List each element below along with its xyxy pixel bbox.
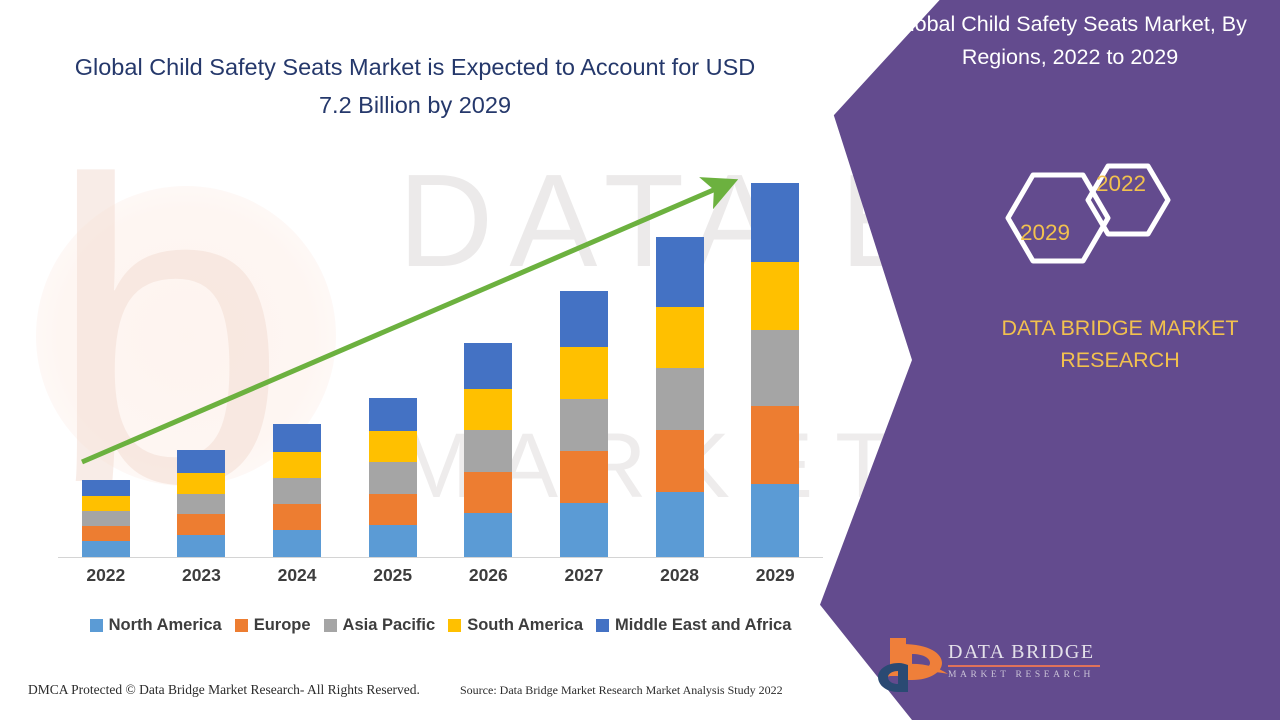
bar-segment[interactable]	[656, 430, 704, 492]
legend-swatch-icon	[596, 619, 609, 632]
bar-slot	[632, 157, 728, 557]
footer: DMCA Protected © Data Bridge Market Rese…	[0, 682, 860, 706]
bar-segment[interactable]	[273, 478, 321, 504]
bar-segment[interactable]	[751, 262, 799, 330]
bar-segment[interactable]	[656, 492, 704, 557]
bar-segment[interactable]	[560, 347, 608, 399]
legend-swatch-icon	[324, 619, 337, 632]
bar-slot	[58, 157, 154, 557]
footer-source: Source: Data Bridge Market Research Mark…	[460, 683, 783, 698]
x-axis-line	[58, 557, 823, 558]
bar-segment[interactable]	[177, 514, 225, 535]
x-axis-tick-label: 2028	[632, 565, 728, 586]
legend-item[interactable]: Asia Pacific	[324, 616, 436, 635]
brand-name: DATA BRIDGE MARKET RESEARCH	[965, 312, 1275, 376]
bar-segment[interactable]	[751, 484, 799, 557]
bar-segment[interactable]	[177, 473, 225, 494]
logo-wordmark: DATA BRIDGE MARKET RESEARCH	[948, 641, 1118, 682]
logo-line2: MARKET RESEARCH	[948, 669, 1118, 682]
bar-segment[interactable]	[82, 541, 130, 557]
bar-segment[interactable]	[656, 237, 704, 307]
bar-segment[interactable]	[82, 511, 130, 526]
legend-label: South America	[467, 616, 583, 635]
bar-segment[interactable]	[464, 430, 512, 472]
legend-item[interactable]: Middle East and Africa	[596, 616, 791, 635]
stacked-bar[interactable]	[656, 237, 704, 557]
hexagon-label-2029: 2029	[1020, 220, 1070, 246]
legend-label: Asia Pacific	[343, 616, 436, 635]
bar-segment[interactable]	[464, 472, 512, 514]
bar-segment[interactable]	[369, 431, 417, 462]
logo-divider	[948, 665, 1100, 667]
legend-swatch-icon	[235, 619, 248, 632]
bar-segment[interactable]	[751, 183, 799, 262]
bar-slot	[441, 157, 537, 557]
x-axis-tick-label: 2024	[249, 565, 345, 586]
bar-slot	[249, 157, 345, 557]
x-axis-tick-label: 2026	[441, 565, 537, 586]
bar-segment[interactable]	[273, 424, 321, 452]
panel-title: Global Child Safety Seats Market, By Reg…	[880, 8, 1260, 74]
bar-slot	[727, 157, 823, 557]
infographic-root: b DATA BRIDGE MARKET RESEARCH Global Chi…	[0, 0, 1280, 720]
x-axis-tick-label: 2023	[154, 565, 250, 586]
stacked-bar[interactable]	[82, 480, 130, 557]
bar-segment[interactable]	[560, 399, 608, 451]
bar-segment[interactable]	[464, 389, 512, 431]
bar-segment[interactable]	[273, 452, 321, 478]
bar-segment[interactable]	[369, 494, 417, 525]
legend-label: Europe	[254, 616, 311, 635]
x-axis-tick-label: 2027	[536, 565, 632, 586]
bar-segment[interactable]	[560, 503, 608, 557]
bar-segment[interactable]	[751, 406, 799, 484]
stacked-bar[interactable]	[464, 343, 512, 557]
bar-segment[interactable]	[464, 343, 512, 389]
chart-legend: North AmericaEuropeAsia PacificSouth Ame…	[58, 616, 823, 635]
legend-label: Middle East and Africa	[615, 616, 791, 635]
x-axis-tick-label: 2029	[727, 565, 823, 586]
legend-item[interactable]: North America	[90, 616, 222, 635]
page-title: Global Child Safety Seats Market is Expe…	[60, 48, 770, 124]
bar-segment[interactable]	[273, 530, 321, 557]
stacked-bar[interactable]	[560, 291, 608, 557]
bar-slot	[154, 157, 250, 557]
bar-slot	[345, 157, 441, 557]
legend-item[interactable]: Europe	[235, 616, 311, 635]
stacked-bar[interactable]	[273, 424, 321, 557]
bar-segment[interactable]	[656, 368, 704, 430]
bar-segment[interactable]	[177, 494, 225, 515]
bar-segment[interactable]	[751, 330, 799, 406]
hexagon-badges	[988, 148, 1188, 288]
bar-segment[interactable]	[369, 398, 417, 431]
logo-line1: DATA BRIDGE	[948, 641, 1118, 664]
x-axis-tick-label: 2025	[345, 565, 441, 586]
bar-segment[interactable]	[82, 480, 130, 496]
legend-item[interactable]: South America	[448, 616, 583, 635]
bar-segment[interactable]	[82, 526, 130, 541]
bar-segment[interactable]	[560, 451, 608, 503]
x-axis-tick-label: 2022	[58, 565, 154, 586]
legend-swatch-icon	[90, 619, 103, 632]
bar-segment[interactable]	[369, 525, 417, 557]
bar-segment[interactable]	[560, 291, 608, 347]
bar-segment[interactable]	[82, 496, 130, 511]
bar-slot	[536, 157, 632, 557]
bar-segment[interactable]	[369, 462, 417, 493]
bar-segment[interactable]	[464, 513, 512, 557]
footer-copyright: DMCA Protected © Data Bridge Market Rese…	[28, 682, 420, 698]
legend-label: North America	[109, 616, 222, 635]
x-axis-labels: 20222023202420252026202720282029	[58, 565, 823, 586]
bar-segment[interactable]	[177, 535, 225, 557]
bar-segment[interactable]	[177, 450, 225, 473]
bar-group	[58, 157, 823, 557]
bar-segment[interactable]	[273, 504, 321, 530]
chart-plot-area	[58, 150, 823, 558]
stacked-bar[interactable]	[369, 398, 417, 557]
bar-segment[interactable]	[656, 307, 704, 369]
stacked-bar[interactable]	[177, 450, 225, 557]
stacked-bar[interactable]	[751, 183, 799, 557]
legend-swatch-icon	[448, 619, 461, 632]
hexagon-label-2022: 2022	[1096, 171, 1146, 197]
